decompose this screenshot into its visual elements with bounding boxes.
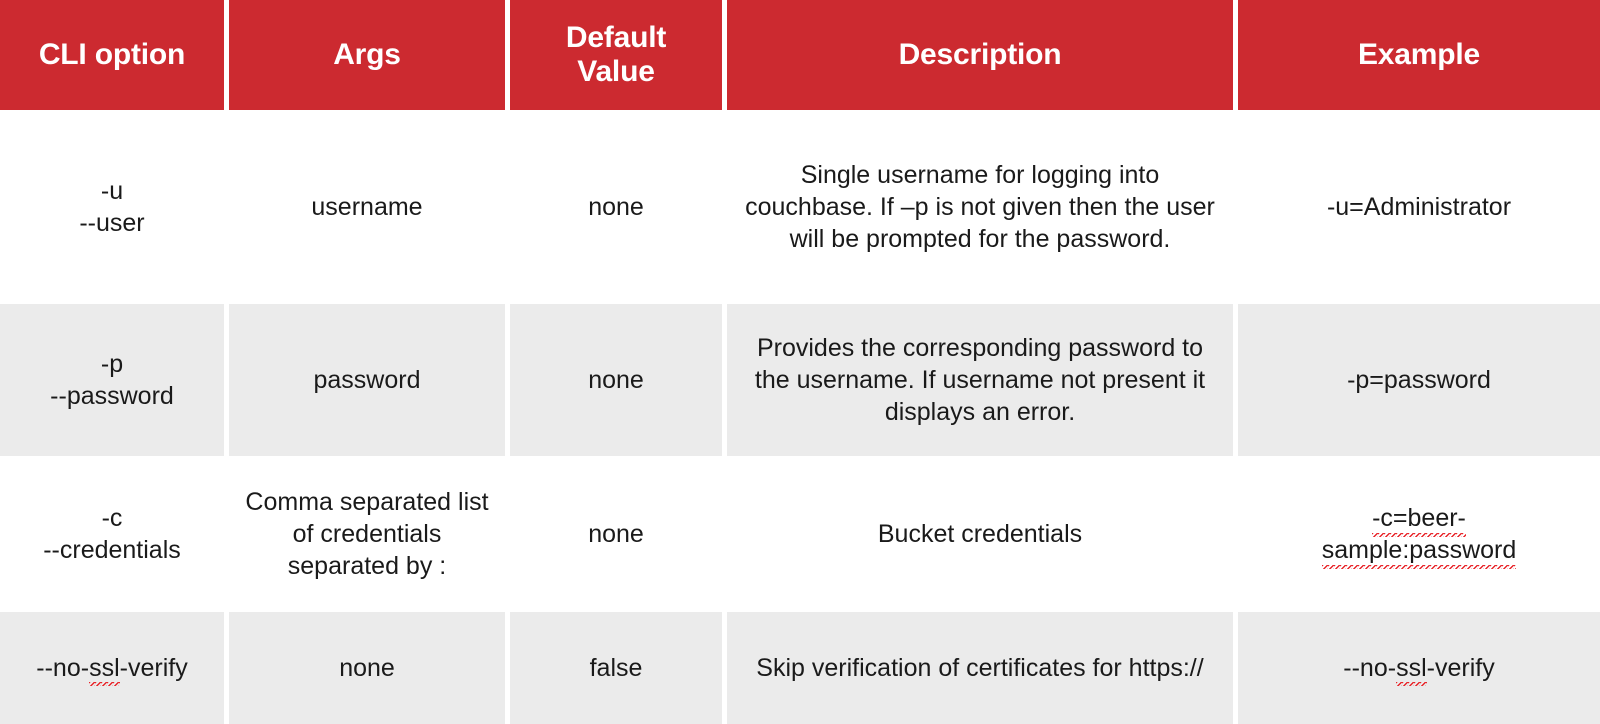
option-short: -p — [12, 348, 212, 380]
example-line1: -c=beer- — [1250, 502, 1588, 534]
spellcheck-flagged-text: -c=beer- — [1372, 502, 1466, 534]
option-long: --credentials — [12, 534, 212, 566]
option-long: --password — [12, 380, 212, 412]
cell-args: Comma separated list of credentials sepa… — [229, 460, 510, 612]
option-suffix: -verify — [1427, 654, 1495, 682]
header-row: CLI option Args Default Value Descriptio… — [0, 0, 1600, 114]
example-line1: --no-ssl-verify — [1250, 652, 1588, 684]
cell-description: Provides the corresponding password to t… — [727, 304, 1238, 460]
option-prefix: --no- — [1343, 654, 1396, 682]
table-container: CLI option Args Default Value Descriptio… — [0, 0, 1600, 626]
column-header-cli-option: CLI option — [0, 0, 229, 114]
cell-cli-option: --no-ssl-verify — [0, 612, 229, 724]
column-header-default-value-line2: Value — [520, 55, 712, 89]
cli-options-table: CLI option Args Default Value Descriptio… — [0, 0, 1600, 724]
cell-example: -c=beer- sample:password — [1238, 460, 1600, 612]
column-header-default-value: Default Value — [510, 0, 727, 114]
cell-cli-option: -c --credentials — [0, 460, 229, 612]
cell-description: Bucket credentials — [727, 460, 1238, 612]
cell-args: username — [229, 114, 510, 304]
option-short: -c — [12, 502, 212, 534]
table-body: -u --user username none Single username … — [0, 114, 1600, 724]
option-suffix: -verify — [120, 654, 188, 682]
option-short: -u — [12, 175, 212, 207]
cell-example: -p=password — [1238, 304, 1600, 460]
option-prefix: --no- — [36, 654, 89, 682]
spellcheck-flagged-text: ssl — [1396, 652, 1427, 684]
table-row: -c --credentials Comma separated list of… — [0, 460, 1600, 612]
table-header: CLI option Args Default Value Descriptio… — [0, 0, 1600, 114]
cell-default-value: none — [510, 114, 727, 304]
cell-description: Skip verification of certificates for ht… — [727, 612, 1238, 724]
example-line1: -u=Administrator — [1250, 191, 1588, 223]
cell-example: --no-ssl-verify — [1238, 612, 1600, 724]
column-header-example: Example — [1238, 0, 1600, 114]
column-header-description: Description — [727, 0, 1238, 114]
table-row: --no-ssl-verify none false Skip verifica… — [0, 612, 1600, 724]
cell-cli-option: -p --password — [0, 304, 229, 460]
option-long: --no-ssl-verify — [12, 652, 212, 684]
column-header-args: Args — [229, 0, 510, 114]
cell-args: none — [229, 612, 510, 724]
cell-args: password — [229, 304, 510, 460]
cell-default-value: none — [510, 460, 727, 612]
cell-default-value: false — [510, 612, 727, 724]
example-line1: -p=password — [1250, 364, 1588, 396]
table-row: -p --password password none Provides the… — [0, 304, 1600, 460]
option-long: --user — [12, 207, 212, 239]
example-line2: sample:password — [1250, 534, 1588, 566]
cell-example: -u=Administrator — [1238, 114, 1600, 304]
cell-description: Single username for logging into couchba… — [727, 114, 1238, 304]
spellcheck-flagged-text: sample:password — [1322, 534, 1517, 566]
cell-cli-option: -u --user — [0, 114, 229, 304]
spellcheck-flagged-text: ssl — [89, 652, 120, 684]
column-header-default-value-line1: Default — [520, 21, 712, 55]
cell-default-value: none — [510, 304, 727, 460]
table-row: -u --user username none Single username … — [0, 114, 1600, 304]
